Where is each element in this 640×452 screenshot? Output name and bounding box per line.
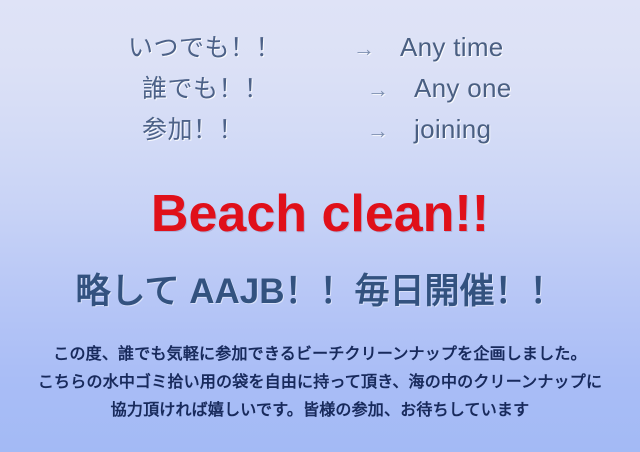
slogan-row: 参加！！ → joining [0, 110, 640, 151]
slogan-japanese-2: 誰でも！！ [128, 69, 342, 105]
subtitle-abbreviation: 略して AAJB！！毎日開催！！ [0, 272, 640, 312]
body-paragraph: この度、誰でも気軽に参加できるビーチクリーンナップを企画しました。 こちらの水中… [0, 341, 640, 425]
headline-title: Beach clean!! [0, 188, 640, 240]
body-line-1: この度、誰でも気軽に参加できるビーチクリーンナップを企画しました。 [0, 341, 640, 369]
arrow-right-icon-2: → [342, 77, 414, 103]
arrow-right-icon-3: → [342, 118, 414, 144]
body-line-2: こちらの水中ゴミ拾い用の袋を自由に持って頂き、海の中のクリーンナップに [0, 369, 640, 397]
poster-canvas: いつでも！！ → Any time 誰でも！！ → Any one 参加！！ →… [0, 0, 640, 452]
slogan-japanese-3: 参加！！ [128, 110, 342, 146]
slogan-row: いつでも！！ → Any time [0, 28, 640, 69]
slogan-list: いつでも！！ → Any time 誰でも！！ → Any one 参加！！ →… [0, 28, 640, 151]
body-line-3: 協力頂ければ嬉しいです。皆様の参加、お待ちしています [0, 397, 640, 425]
slogan-english-2: Any one [414, 73, 512, 104]
slogan-english-1: Any time [400, 32, 504, 63]
slogan-japanese-1: いつでも！！ [128, 28, 328, 64]
arrow-right-icon-1: → [328, 36, 400, 62]
slogan-english-3: joining [414, 114, 491, 145]
slogan-row: 誰でも！！ → Any one [0, 69, 640, 110]
